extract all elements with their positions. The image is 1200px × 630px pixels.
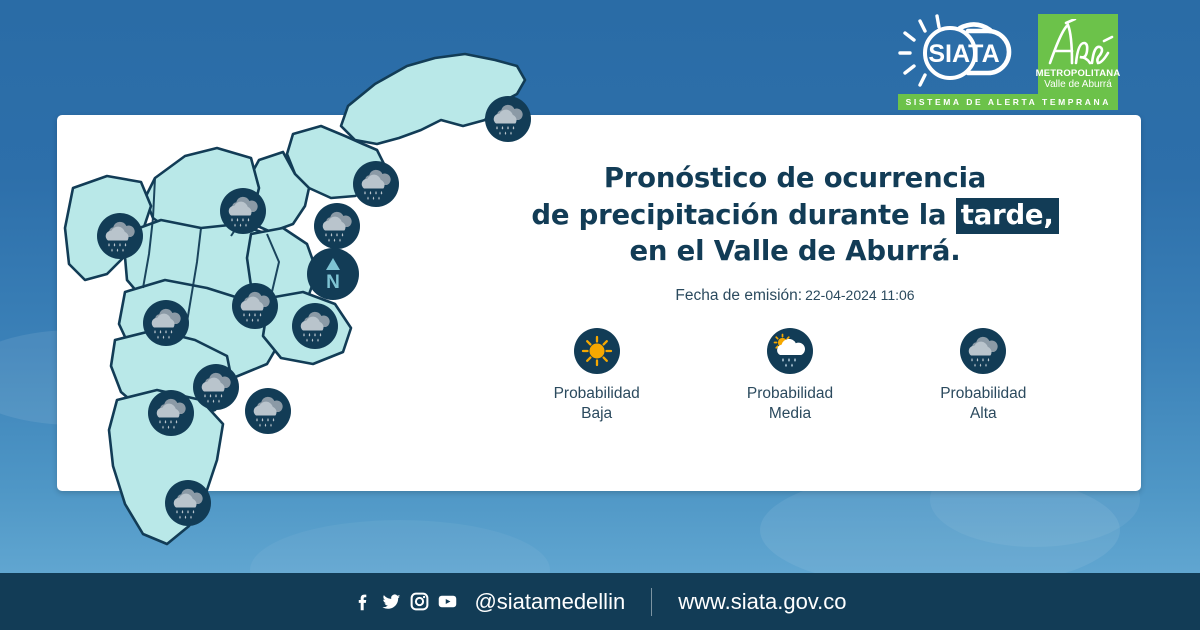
legend-item-alta: Probabilidad Alta [908, 328, 1058, 425]
page-title: Pronóstico de ocurrencia de precipitació… [490, 160, 1100, 270]
map-rain-pin-copacabana [314, 203, 360, 249]
headline-line-3: en el Valle de Aburrá. [490, 233, 1100, 270]
social-handle[interactable]: @siatamedellin [474, 589, 625, 615]
legend-label-alta: Probabilidad Alta [940, 384, 1026, 425]
youtube-icon[interactable] [437, 591, 458, 612]
map-rain-pin-itagui [143, 300, 189, 346]
website-url[interactable]: www.siata.gov.co [678, 589, 846, 615]
issue-date-label: Fecha de emisión: [675, 287, 802, 304]
siata-logo: SIATA [898, 14, 1030, 92]
map-rain-pin-bello [220, 188, 266, 234]
facebook-icon[interactable] [353, 591, 374, 612]
legend-label-line2: Alta [940, 404, 1026, 424]
rain-cloud-icon [960, 328, 1006, 374]
map-rain-pin-san-jeronimo [97, 213, 143, 259]
sun-icon [574, 328, 620, 374]
siata-logo-text: SIATA [928, 40, 999, 68]
legend-label-media: Probabilidad Media [747, 384, 833, 425]
legend-label-line1: Probabilidad [554, 384, 640, 404]
legend-item-baja: Probabilidad Baja [522, 328, 672, 425]
map-rain-pin-medellin [232, 283, 278, 329]
social-links [353, 591, 458, 612]
legend-label-line1: Probabilidad [747, 384, 833, 404]
map-rain-pin-girardota [353, 161, 399, 207]
legend-label-line2: Media [747, 404, 833, 424]
map-rain-pin-sabaneta [193, 364, 239, 410]
headline-line-2: de precipitación durante la tarde, [490, 197, 1100, 234]
map-rain-pin-envigado [292, 303, 338, 349]
twitter-icon[interactable] [381, 591, 402, 612]
map-rain-pin-la-estrella [148, 390, 194, 436]
sun-rain-cloud-icon [767, 328, 813, 374]
area-script-icon [1042, 19, 1114, 69]
area-metropolitana-logo: METROPOLITANA Valle de Aburrá [1038, 14, 1118, 94]
footer-divider [651, 588, 652, 616]
instagram-icon[interactable] [409, 591, 430, 612]
map-rain-pin-barbosa [485, 96, 531, 142]
legend-label-baja: Probabilidad Baja [554, 384, 640, 425]
map-rain-pin-caldas [245, 388, 291, 434]
legend-item-media: Probabilidad Media [715, 328, 865, 425]
headline-highlight: tarde, [956, 198, 1059, 234]
headline-line-1: Pronóstico de ocurrencia [490, 160, 1100, 197]
probability-legend: Probabilidad Baja Prob [500, 328, 1080, 425]
forecast-panel: Pronóstico de ocurrencia de precipitació… [490, 160, 1100, 305]
logo-area: SIATA METROPOLITANA Valle de Aburrá [898, 14, 1118, 94]
aburra-valley-map: N [55, 48, 535, 568]
compass-label: N [326, 272, 340, 293]
area-logo-line1: METROPOLITANA [1036, 69, 1121, 79]
legend-label-line2: Baja [554, 404, 640, 424]
legend-label-line1: Probabilidad [940, 384, 1026, 404]
area-logo-line2: Valle de Aburrá [1044, 79, 1112, 90]
headline-line-2-text: de precipitación durante la [531, 199, 955, 231]
issue-date-value: 22-04-2024 11:06 [805, 287, 915, 303]
issue-date: Fecha de emisión:22-04-2024 11:06 [490, 287, 1100, 305]
compass-north-icon: N [307, 248, 359, 300]
tagline-banner: SISTEMA DE ALERTA TEMPRANA [898, 94, 1118, 110]
map-rain-pin-caldas-sur [165, 480, 211, 526]
footer-bar: @siatamedellin www.siata.gov.co [0, 573, 1200, 630]
